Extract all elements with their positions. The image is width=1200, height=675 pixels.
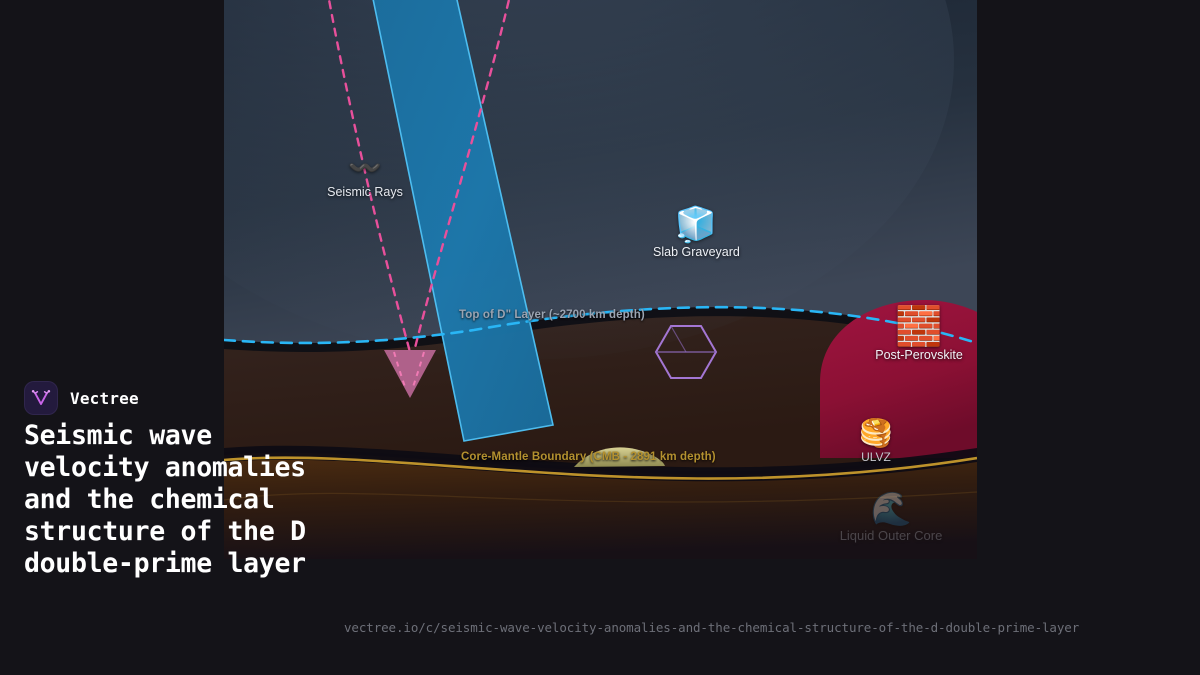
node-slab-graveyard-label: Slab Graveyard	[653, 245, 739, 259]
node-liquid-outer-core-label: Liquid Outer Core	[796, 528, 977, 543]
core-mantle-boundary-label: Core-Mantle Boundary (CMB - 2891 km dept…	[461, 451, 716, 463]
ice-cube-icon: 🧊	[653, 208, 739, 242]
brand-lockup[interactable]: Vectree	[24, 381, 139, 415]
brick-wall-icon: 🧱	[849, 307, 977, 345]
node-liquid-outer-core[interactable]: 🌊 Liquid Outer Core	[796, 492, 977, 543]
page-title: Seismic wave velocity anomalies and the …	[24, 420, 324, 580]
node-ulvz[interactable]: 🥞 ULVZ	[828, 420, 924, 464]
node-seismic-rays-label: Seismic Rays	[325, 185, 405, 199]
d-double-prime-boundary-label: Top of D" Layer (~2700 km depth)	[459, 309, 645, 321]
vectree-logo-glyph	[30, 387, 52, 409]
screenshot-root: Top of D" Layer (~2700 km depth) Core-Ma…	[0, 0, 1200, 675]
diagram-canvas	[224, 0, 977, 559]
ocean-wave-icon: 🌊	[796, 492, 977, 525]
wavy-dash-icon: 〰️	[325, 155, 405, 182]
node-post-perovskite-label: Post-Perovskite	[849, 348, 977, 362]
node-slab-graveyard[interactable]: 🧊 Slab Graveyard	[653, 208, 739, 259]
pancakes-icon: 🥞	[828, 420, 924, 447]
earth-cross-section-diagram: Top of D" Layer (~2700 km depth) Core-Ma…	[224, 0, 977, 559]
node-ulvz-label: ULVZ	[828, 450, 924, 464]
node-post-perovskite[interactable]: 🧱 Post-Perovskite	[849, 307, 977, 362]
node-seismic-rays[interactable]: 〰️ Seismic Rays	[325, 155, 405, 199]
vectree-v-logo-icon	[24, 381, 58, 415]
footer-url: vectree.io/c/seismic-wave-velocity-anoma…	[344, 620, 1079, 635]
brand-name: Vectree	[70, 389, 139, 408]
